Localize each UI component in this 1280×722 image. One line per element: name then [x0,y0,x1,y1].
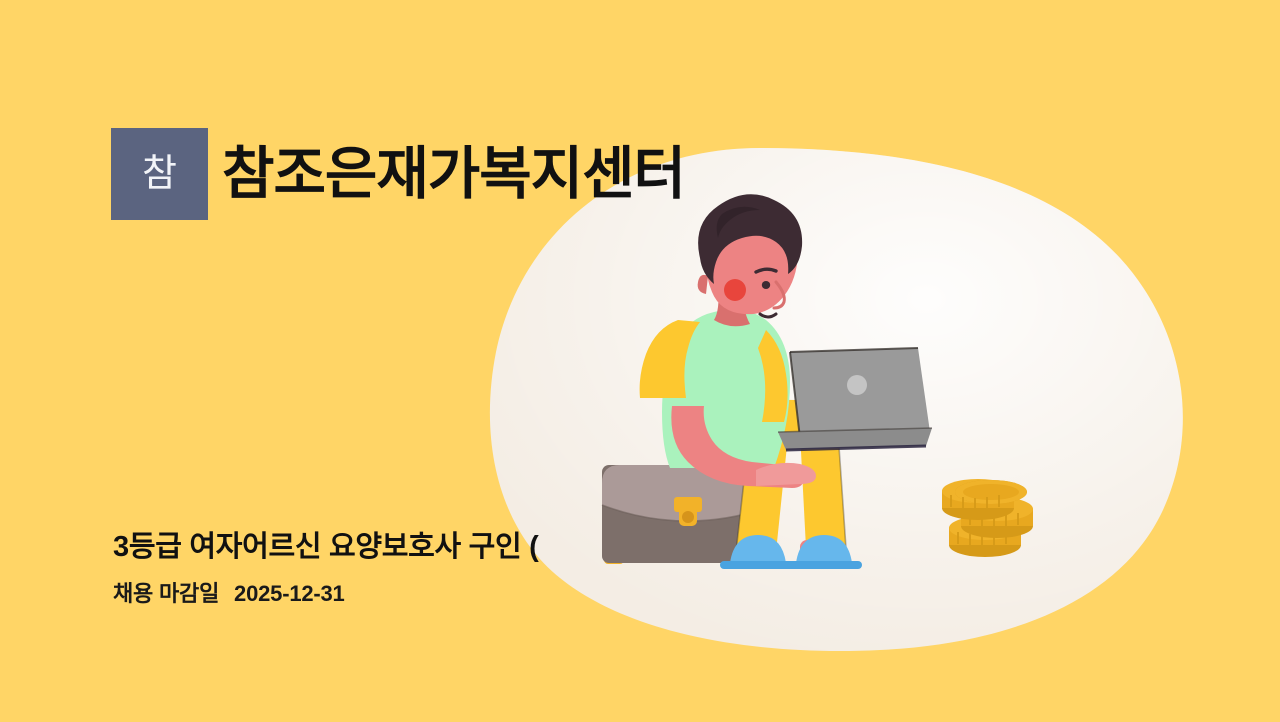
shoes [720,535,862,569]
illustration-person-with-laptop [0,0,1280,722]
deadline-row: 채용 마감일 2025-12-31 [113,581,673,607]
deadline-date: 2025-12-31 [234,581,345,606]
job-posting-banner: 참 참조은재가복지센터 3등급 여자어르신 요양보호사 구인 ( 채용 마감일 … [0,0,1280,722]
coin-stack [942,479,1033,557]
job-title: 3등급 여자어르신 요양보호사 구인 ( [113,529,673,565]
laptop [778,348,932,450]
head [698,194,802,317]
organization-name: 참조은재가복지센터 [222,146,685,203]
logo-badge-text: 참 [142,155,177,193]
logo-badge: 참 [111,128,208,220]
deadline-label: 채용 마감일 [113,581,219,606]
posting-summary: 3등급 여자어르신 요양보호사 구인 ( 채용 마감일 2025-12-31 [113,529,673,608]
header: 참 참조은재가복지센터 [111,128,685,220]
